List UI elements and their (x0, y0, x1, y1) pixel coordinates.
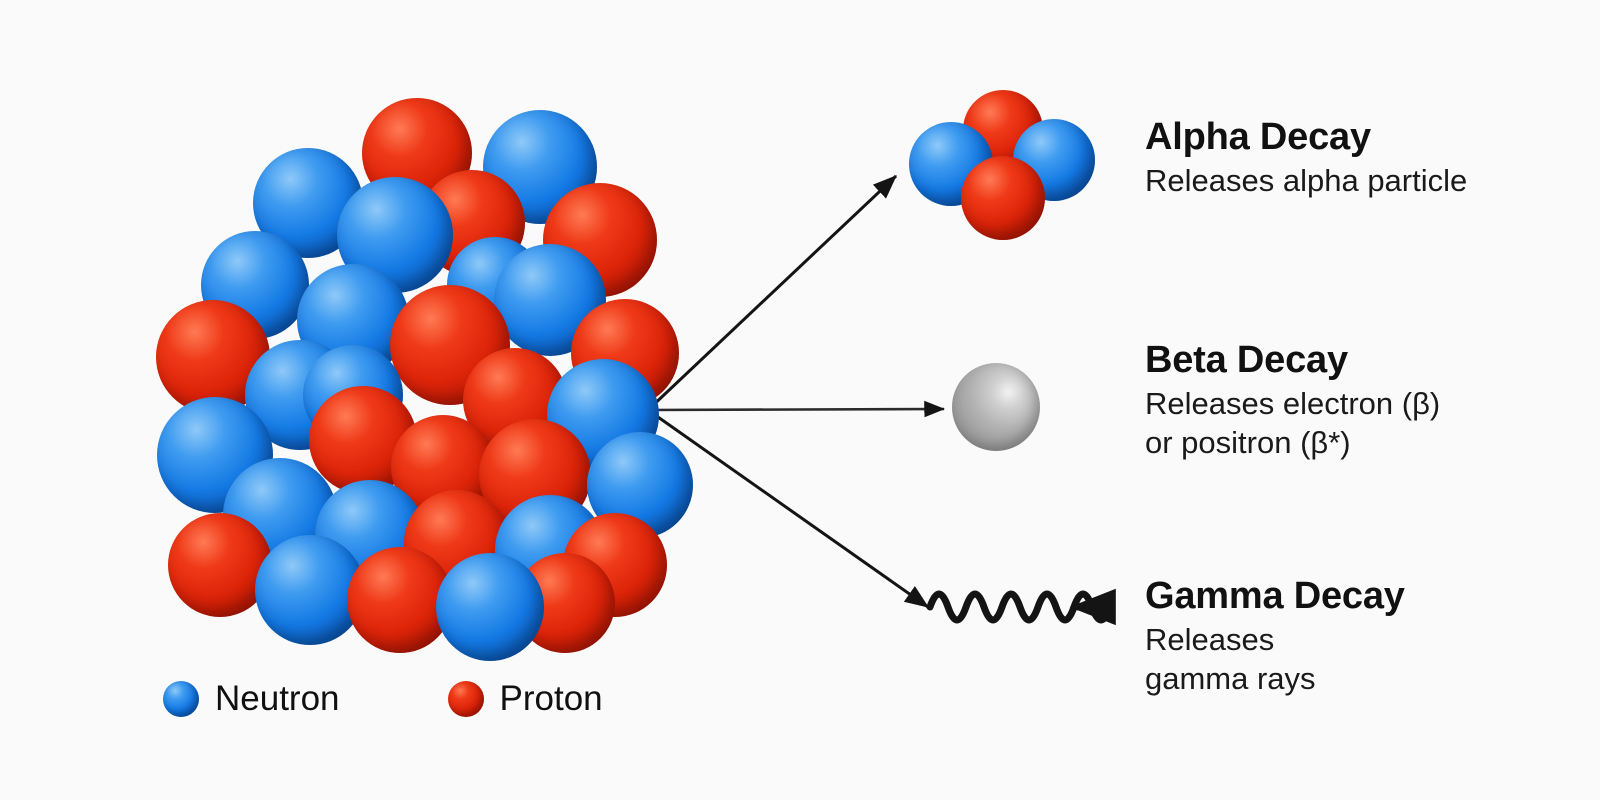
beta-decay-label-group: Beta Decay Releases electron (β) or posi… (1145, 341, 1440, 462)
gamma-decay-label-group: Gamma Decay Releases gamma rays (1145, 577, 1405, 698)
beta-decay-description-line-1: Releases electron (β) (1145, 384, 1440, 423)
legend-item-proton: Proton (448, 679, 603, 719)
alpha-decay-description-line-1: Releases alpha particle (1145, 161, 1467, 200)
beta-decay-title: Beta Decay (1145, 341, 1440, 381)
neutron-swatch-icon (163, 681, 199, 717)
beta-particle-sphere (952, 363, 1040, 451)
beta-decay-arrow (648, 409, 944, 410)
alpha-decay-label-group: Alpha Decay Releases alpha particle (1145, 118, 1467, 200)
gamma-decay-title: Gamma Decay (1145, 577, 1405, 617)
legend: Neutron Proton (163, 679, 603, 719)
atomic-nucleus (95, 95, 665, 655)
alpha-particle (915, 90, 1090, 250)
decay-diagram-canvas: Alpha Decay Releases alpha particle Beta… (0, 0, 1600, 800)
proton-swatch-icon (448, 681, 484, 717)
proton-sphere (961, 156, 1045, 240)
gamma-decay-description-line-2: gamma rays (1145, 659, 1405, 698)
gamma-decay-description-line-1: Releases (1145, 620, 1405, 659)
legend-item-neutron: Neutron (163, 679, 340, 719)
legend-label-proton: Proton (500, 679, 603, 719)
alpha-decay-arrow (648, 176, 896, 410)
neutron-sphere (436, 553, 544, 661)
beta-decay-description-line-2: or positron (β*) (1145, 423, 1440, 462)
alpha-decay-title: Alpha Decay (1145, 118, 1467, 158)
gamma-ray-wave (930, 594, 1110, 620)
gamma-decay-arrow (648, 410, 928, 607)
legend-label-neutron: Neutron (215, 679, 340, 719)
